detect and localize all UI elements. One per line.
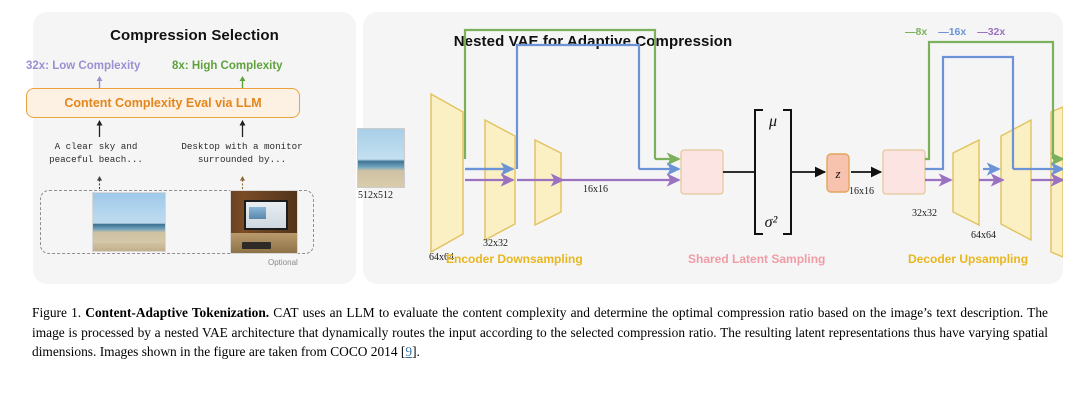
- description-text-beach: A clear sky and peaceful beach...: [36, 140, 156, 166]
- description-text-desktop: Desktop with a monitor surrounded by...: [172, 140, 312, 166]
- arrow-up-from-desktop-thumbnail-icon: [238, 176, 247, 189]
- decoder-dim-32: 32x32: [912, 208, 937, 219]
- keyboard: [242, 242, 271, 249]
- decoder-dim-64: 64x64: [971, 230, 996, 241]
- section-label-decoder: Decoder Upsampling: [908, 252, 1028, 266]
- sigma-squared-symbol: σ²: [765, 214, 779, 231]
- encoder-block-3: [535, 140, 561, 225]
- decoder-dim-16: 16x16: [849, 186, 874, 197]
- arrow-up-from-right-description-icon: [238, 120, 247, 137]
- decoder-block-1: [953, 140, 979, 225]
- beach-photo-thumbnail[interactable]: [92, 192, 166, 252]
- caption-bold-title: Content-Adaptive Tokenization.: [85, 305, 269, 320]
- encoder-block-1: [431, 94, 463, 252]
- decoder-block-2: [1001, 120, 1031, 240]
- section-label-encoder: Encoder Downsampling: [446, 252, 583, 266]
- caption-body-2: ].: [412, 344, 420, 359]
- bracket-right: [783, 110, 791, 234]
- section-label-latent: Shared Latent Sampling: [688, 252, 825, 266]
- path-8x-decoder: [925, 42, 1053, 159]
- z-symbol: z: [834, 166, 840, 181]
- optional-label: Optional: [268, 258, 298, 267]
- caption-figure-number: Figure 1.: [32, 305, 81, 320]
- desktop-photo-thumbnail[interactable]: [230, 190, 298, 254]
- bracket-left: [755, 110, 763, 234]
- latent-input-box: [681, 150, 723, 194]
- encoder-dim-16: 16x16: [583, 184, 608, 195]
- mu-symbol: μ: [768, 113, 777, 130]
- figure-area: Compression Selection 32x: Low Complexit…: [0, 0, 1080, 292]
- latent-output-box: [883, 150, 925, 194]
- content-complexity-eval-box[interactable]: Content Complexity Eval via LLM: [26, 88, 300, 118]
- label-high-complexity: 8x: High Complexity: [172, 60, 283, 72]
- arrow-up-from-left-description-icon: [95, 120, 104, 137]
- nested-vae-diagram: μ σ² z: [363, 12, 1063, 284]
- monitor-screen: [244, 200, 289, 230]
- figure-caption: Figure 1. Content-Adaptive Tokenization.…: [32, 303, 1048, 362]
- label-low-complexity: 32x: Low Complexity: [26, 60, 140, 72]
- encoder-dim-32: 32x32: [483, 238, 508, 249]
- arrow-up-from-beach-thumbnail-icon: [95, 176, 104, 189]
